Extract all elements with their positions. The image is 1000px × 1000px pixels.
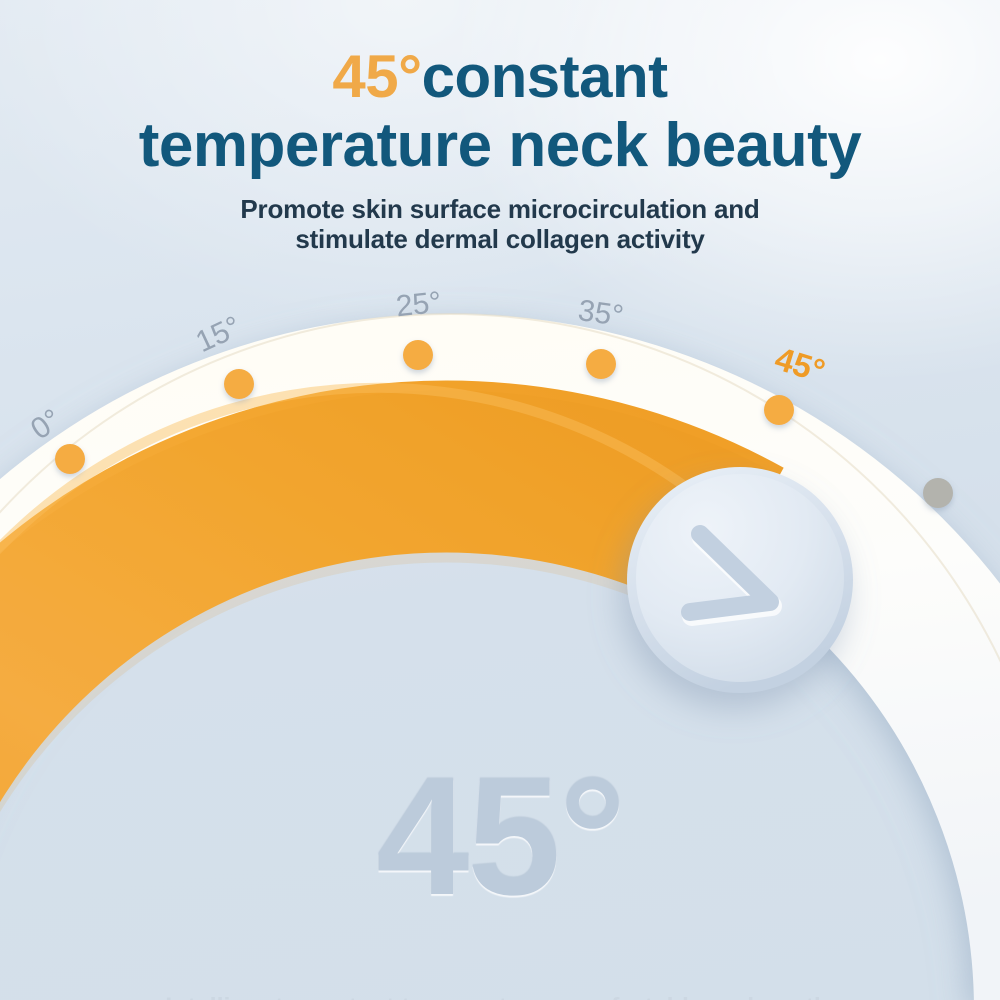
- subtitle-line-1: Promote skin surface microcirculation an…: [0, 194, 1000, 224]
- tick-label-35: 35°: [576, 294, 626, 334]
- product-poster: 45°constant temperature neck beauty Prom…: [0, 0, 1000, 1000]
- temperature-watermark: 45°: [0, 752, 1000, 920]
- title-word-constant: constant: [422, 43, 668, 110]
- tick-dot-empty[interactable]: [923, 478, 953, 508]
- tick-dot-0[interactable]: [55, 444, 85, 474]
- tick-dot-15[interactable]: [224, 369, 254, 399]
- bottom-caption: Intelligent constant temperature, comfor…: [0, 992, 1000, 1000]
- tick-dot-35[interactable]: [586, 349, 616, 379]
- tick-dot-25[interactable]: [403, 340, 433, 370]
- title-accent-temp: 45°: [332, 43, 421, 110]
- subtitle-line-2: stimulate dermal collagen activity: [0, 224, 1000, 254]
- tick-label-25: 25°: [394, 286, 443, 325]
- title-line-1: 45°constant: [0, 46, 1000, 108]
- tick-dot-45[interactable]: [764, 395, 794, 425]
- subtitle-block: Promote skin surface microcirculation an…: [0, 194, 1000, 254]
- headline-block: 45°constant temperature neck beauty Prom…: [0, 46, 1000, 254]
- title-line-2: temperature neck beauty: [0, 114, 1000, 178]
- temperature-knob[interactable]: [627, 467, 853, 693]
